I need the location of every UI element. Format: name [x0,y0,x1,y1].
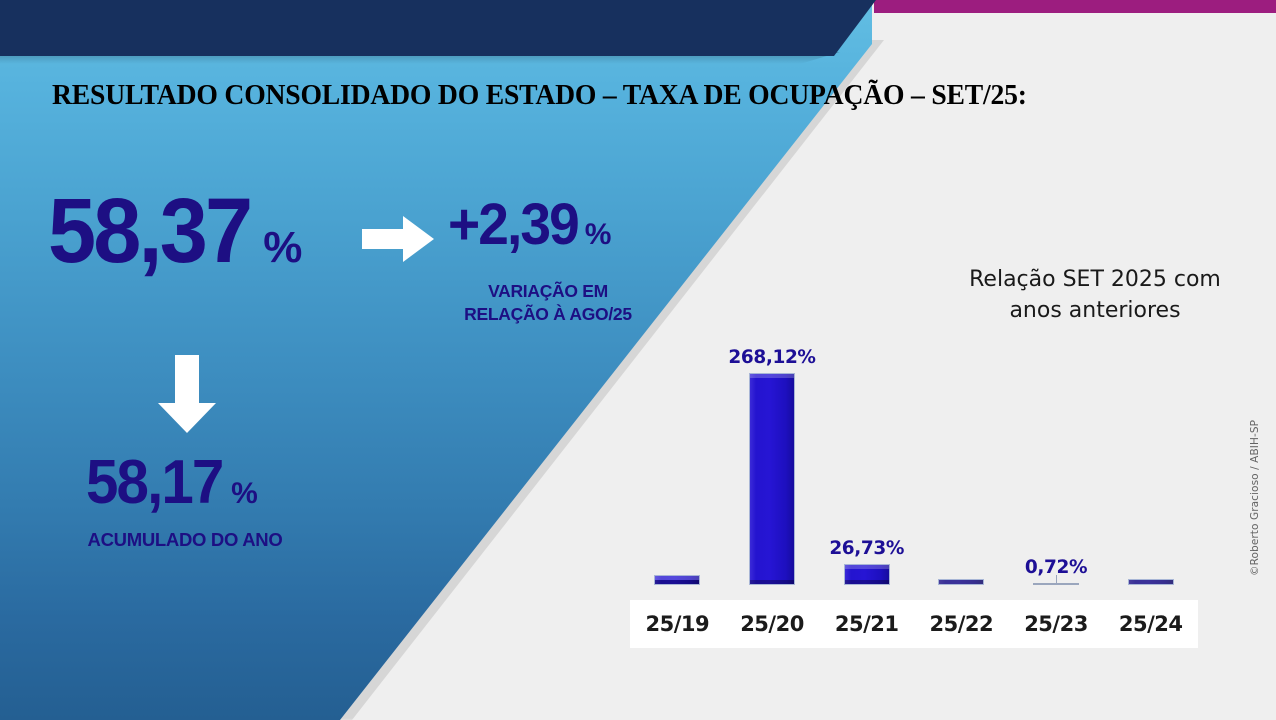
magenta-accent-band [874,0,1276,13]
variation-caption-line-1: VARIAÇÃO EM [448,280,648,303]
navy-header-band [0,0,890,62]
chart-title-line-2: anos anteriores [930,295,1260,326]
credit-text: ©Roberto Gracioso / ABIH-SP [1249,406,1261,576]
chart-title-line-1: Relação SET 2025 com [930,264,1260,295]
occupancy-kpi: 58,37% [48,185,301,277]
arrow-right-icon [362,216,434,262]
chart-value-label: 26,73% [807,538,927,559]
comparison-bar-chart: -13,28%268,12%26,73%-5,81%0,72%-7,55% 25… [630,340,1200,650]
chart-plot-area: -13,28%268,12%26,73%-5,81%0,72%-7,55% [630,340,1200,600]
arrow-down-icon [158,355,216,433]
page-title: RESULTADO CONSOLIDADO DO ESTADO – TAXA D… [52,80,1027,112]
chart-title: Relação SET 2025 com anos anteriores [930,264,1260,326]
chart-bar [1128,579,1174,585]
occupancy-value: 58,37 [48,185,250,277]
chart-bar [749,373,795,585]
occupancy-percent-sign: % [263,223,301,272]
variation-caption: VARIAÇÃO EM RELAÇÃO À AGO/25 [448,280,648,326]
variation-caption-line-2: RELAÇÃO À AGO/25 [448,303,648,326]
variation-value: +2,39 [448,196,578,254]
slide-canvas: RESULTADO CONSOLIDADO DO ESTADO – TAXA D… [0,0,1276,720]
chart-bar [654,575,700,585]
variation-kpi: +2,39% [448,196,611,254]
accumulated-kpi: 58,17% [86,452,257,514]
chart-value-label: 268,12% [712,347,832,368]
chart-value-label: 0,72% [996,557,1116,578]
chart-bar [938,579,984,585]
chart-bar [844,564,890,585]
accumulated-percent-sign: % [231,477,257,510]
accumulated-caption: ACUMULADO DO ANO [40,529,330,551]
accumulated-value: 58,17 [86,452,222,514]
variation-percent-sign: % [585,218,611,251]
chart-category-label: 25/24 [1091,612,1211,636]
